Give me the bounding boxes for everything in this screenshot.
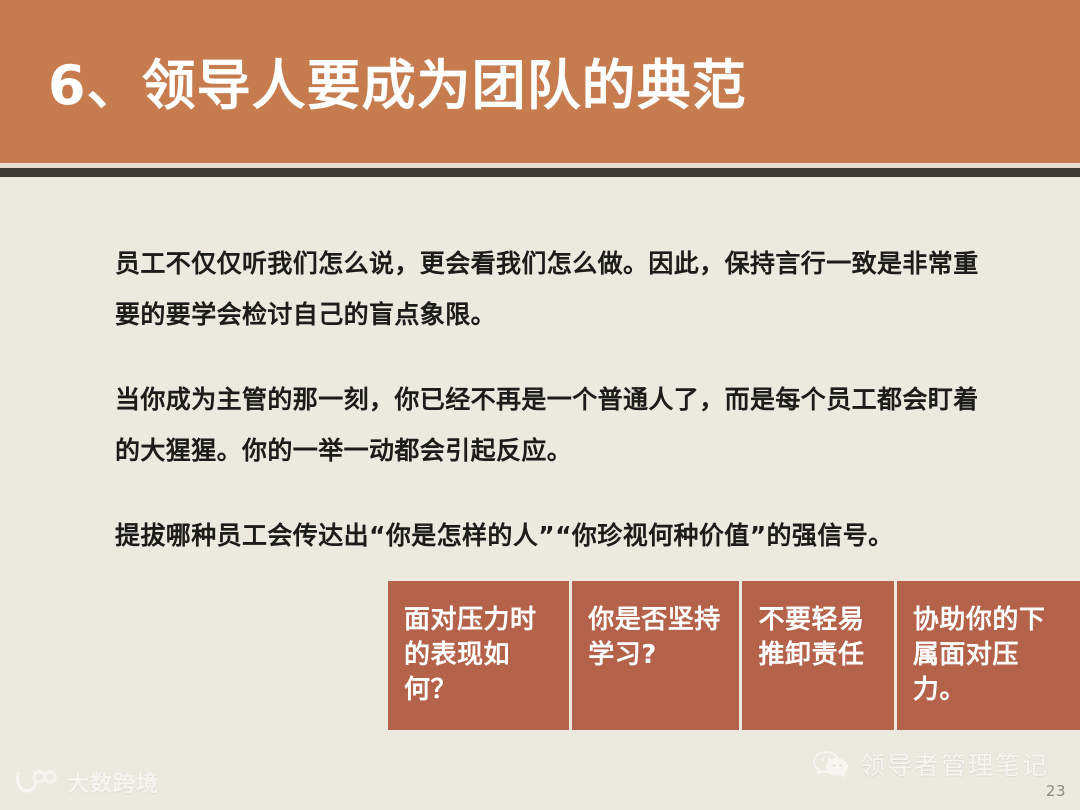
watermark-right: 领导者管理笔记 [812, 746, 1049, 782]
watermark-left: 大数跨境 [14, 766, 159, 798]
highlight-box-4: 协助你的下属面对压力。 [897, 581, 1080, 730]
page-title: 6、领导人要成为团队的典范 [48, 58, 747, 115]
watermark-left-label: 大数跨境 [67, 766, 159, 798]
wechat-icon [812, 749, 850, 779]
highlight-box-row: 面对压力时的表现如何？ 你是否坚持学习? 不要轻易推卸责任 协助你的下属面对压力… [388, 581, 1080, 730]
highlight-box-1: 面对压力时的表现如何？ [388, 581, 569, 730]
dashu-logo-icon [14, 769, 58, 795]
body-paragraph-3: 提拔哪种员工会传达出“你是怎样的人”“你珍视何种价值”的强信号。 [115, 510, 995, 561]
page-number: 23 [1046, 782, 1066, 800]
highlight-box-2: 你是否坚持学习? [572, 581, 739, 730]
highlight-box-3: 不要轻易推卸责任 [742, 581, 893, 730]
body-copy: 员工不仅仅听我们怎么说，更会看我们怎么做。因此，保持言行一致是非常重要的要学会检… [115, 238, 995, 561]
body-paragraph-2: 当你成为主管的那一刻，你已经不再是一个普通人了，而是每个员工都会盯着的大猩猩。你… [115, 374, 995, 476]
body-paragraph-1: 员工不仅仅听我们怎么说，更会看我们怎么做。因此，保持言行一致是非常重要的要学会检… [115, 238, 995, 340]
slide: 6、领导人要成为团队的典范 员工不仅仅听我们怎么说，更会看我们怎么做。因此，保持… [0, 0, 1080, 810]
watermark-right-label: 领导者管理笔记 [860, 746, 1049, 782]
header-divider-dark [0, 168, 1080, 177]
slide-header: 6、领导人要成为团队的典范 [0, 0, 1080, 163]
